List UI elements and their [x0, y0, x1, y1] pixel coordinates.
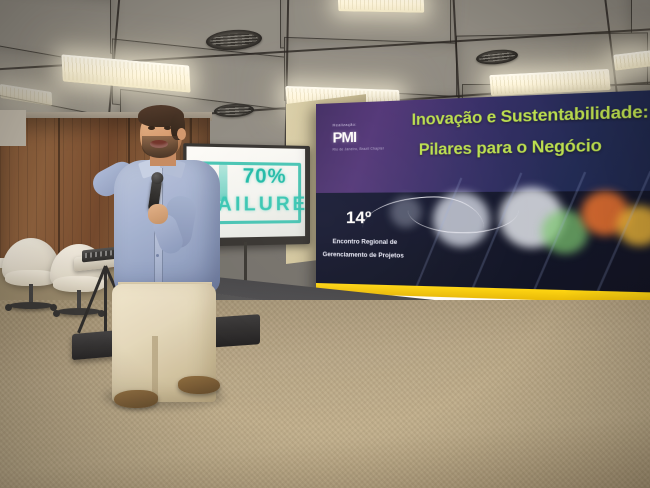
organizer-label: Realização:: [333, 120, 408, 128]
organizer-logo-block: Realização: PMI Rio de Janeiro, Brazil C…: [333, 120, 408, 152]
mouth: [150, 140, 168, 148]
shoe: [114, 390, 158, 408]
wall-panel: [0, 110, 26, 146]
mic-hand: [148, 204, 168, 224]
edition-number: 14º: [346, 208, 371, 228]
edition-line1: Encontro Regional de: [333, 238, 398, 246]
shoe: [178, 376, 220, 394]
slide-percent: 70%: [243, 165, 287, 189]
ear: [177, 128, 186, 140]
pmi-logo: PMI: [333, 127, 408, 146]
speaker-person: [78, 104, 238, 404]
conference-photo: 70% FAILURE Realização: PMI Rio de Janei…: [0, 0, 650, 488]
ceiling-light: [338, 0, 425, 13]
edition-line2: Gerenciamento de Projetos: [323, 251, 404, 260]
